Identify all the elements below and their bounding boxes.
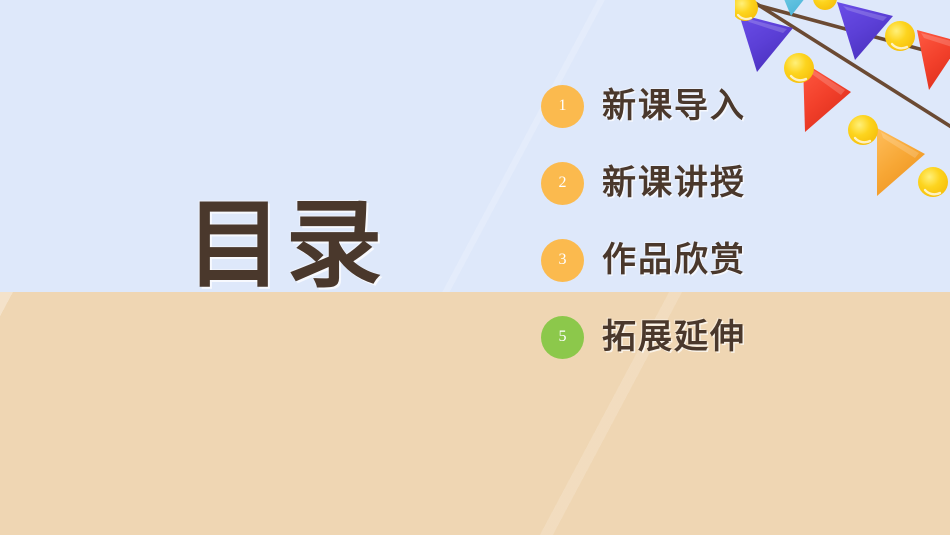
contents-label-3: 作品欣赏 xyxy=(602,243,746,277)
contents-number-2: 2 xyxy=(559,174,567,192)
contents-number-3: 3 xyxy=(559,251,567,269)
contents-number-1: 1 xyxy=(559,97,567,115)
contents-badge-4: 5 xyxy=(541,316,584,359)
contents-list: 1 新课导入 2 新课讲授 3 作品欣赏 5 拓展延伸 xyxy=(541,84,861,359)
contents-badge-3: 3 xyxy=(541,239,584,282)
contents-item-4[interactable]: 5 拓展延伸 xyxy=(541,315,861,359)
contents-item-3[interactable]: 3 作品欣赏 xyxy=(541,238,861,282)
contents-label-1: 新课导入 xyxy=(602,89,746,123)
contents-item-1[interactable]: 1 新课导入 xyxy=(541,84,861,128)
contents-number-4: 5 xyxy=(559,328,567,346)
page-title: 目录 xyxy=(186,198,386,294)
contents-badge-2: 2 xyxy=(541,162,584,205)
contents-label-4: 拓展延伸 xyxy=(602,320,746,354)
contents-label-2: 新课讲授 xyxy=(602,166,746,200)
contents-badge-1: 1 xyxy=(541,85,584,128)
contents-item-2[interactable]: 2 新课讲授 xyxy=(541,161,861,205)
slide-canvas: 目录 1 新课导入 2 新课讲授 3 作品欣赏 5 拓展延伸 xyxy=(0,0,950,535)
